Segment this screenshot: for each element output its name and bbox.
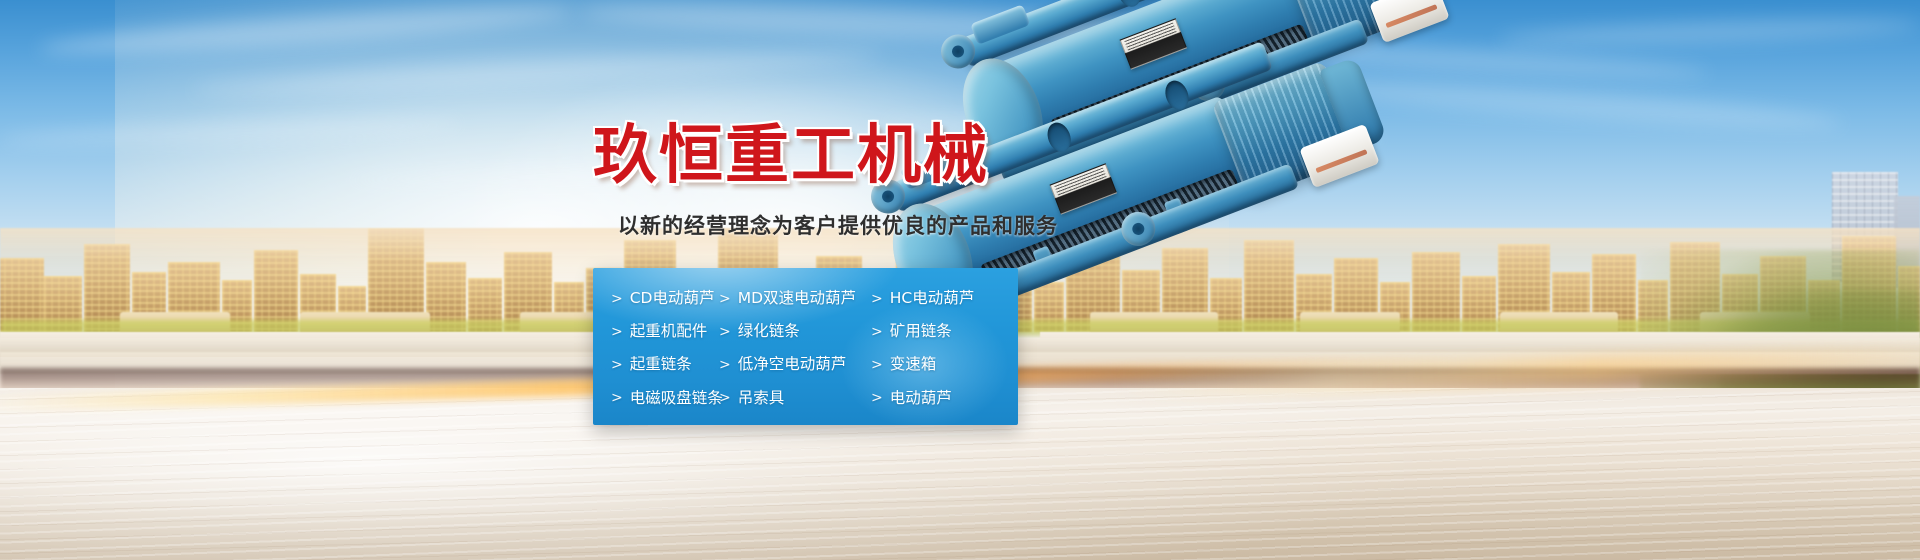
chevron-right-icon: >: [871, 391, 883, 405]
menu-item-hc-hoist[interactable]: > HC电动葫芦: [861, 291, 1018, 307]
menu-item-low-headroom-hoist[interactable]: > 低净空电动葫芦: [719, 357, 861, 373]
menu-item-magnetic-chuck-chain[interactable]: > 电磁吸盘链条: [611, 391, 719, 407]
chevron-right-icon: >: [871, 358, 883, 372]
menu-item-label: 绿化链条: [738, 324, 800, 340]
chevron-right-icon: >: [871, 292, 883, 306]
menu-item-greening-chain[interactable]: > 绿化链条: [719, 324, 861, 340]
menu-item-label: 变速箱: [890, 357, 937, 373]
menu-item-electric-hoist[interactable]: > 电动葫芦: [861, 391, 1018, 407]
menu-item-label: CD电动葫芦: [630, 291, 715, 307]
menu-item-cd-hoist[interactable]: > CD电动葫芦: [611, 291, 719, 307]
menu-item-label: 电磁吸盘链条: [630, 391, 723, 407]
chevron-right-icon: >: [611, 358, 623, 372]
menu-item-label: MD双速电动葫芦: [738, 291, 856, 307]
menu-item-label: 吊索具: [738, 391, 785, 407]
menu-item-md-dual-speed-hoist[interactable]: > MD双速电动葫芦: [719, 291, 861, 307]
menu-item-label: 起重链条: [630, 357, 692, 373]
menu-item-label: HC电动葫芦: [890, 291, 974, 307]
menu-item-label: 电动葫芦: [890, 391, 952, 407]
menu-item-slings[interactable]: > 吊索具: [719, 391, 861, 407]
chevron-right-icon: >: [719, 292, 731, 306]
chevron-right-icon: >: [871, 325, 883, 339]
chevron-right-icon: >: [611, 391, 623, 405]
menu-item-label: 矿用链条: [890, 324, 952, 340]
chevron-right-icon: >: [611, 292, 623, 306]
menu-item-gearbox[interactable]: > 变速箱: [861, 357, 1018, 373]
chevron-right-icon: >: [611, 325, 623, 339]
chevron-right-icon: >: [719, 325, 731, 339]
chevron-right-icon: >: [719, 358, 731, 372]
menu-item-mining-chain[interactable]: > 矿用链条: [861, 324, 1018, 340]
product-category-panel: > CD电动葫芦 > MD双速电动葫芦 > HC电动葫芦 > 起重机配件 > 绿…: [593, 268, 1018, 425]
page-title: 玖恒重工机械: [593, 124, 989, 188]
menu-item-label: 低净空电动葫芦: [738, 357, 847, 373]
menu-item-crane-parts[interactable]: > 起重机配件: [611, 324, 719, 340]
page-subtitle: 以新的经营理念为客户提供优良的产品和服务: [618, 214, 1058, 239]
menu-item-label: 起重机配件: [630, 324, 708, 340]
hero-banner: 玖恒重工机械 以新的经营理念为客户提供优良的产品和服务 > CD电动葫芦 > M…: [0, 0, 1920, 560]
chevron-right-icon: >: [719, 391, 731, 405]
menu-item-lifting-chain[interactable]: > 起重链条: [611, 357, 719, 373]
